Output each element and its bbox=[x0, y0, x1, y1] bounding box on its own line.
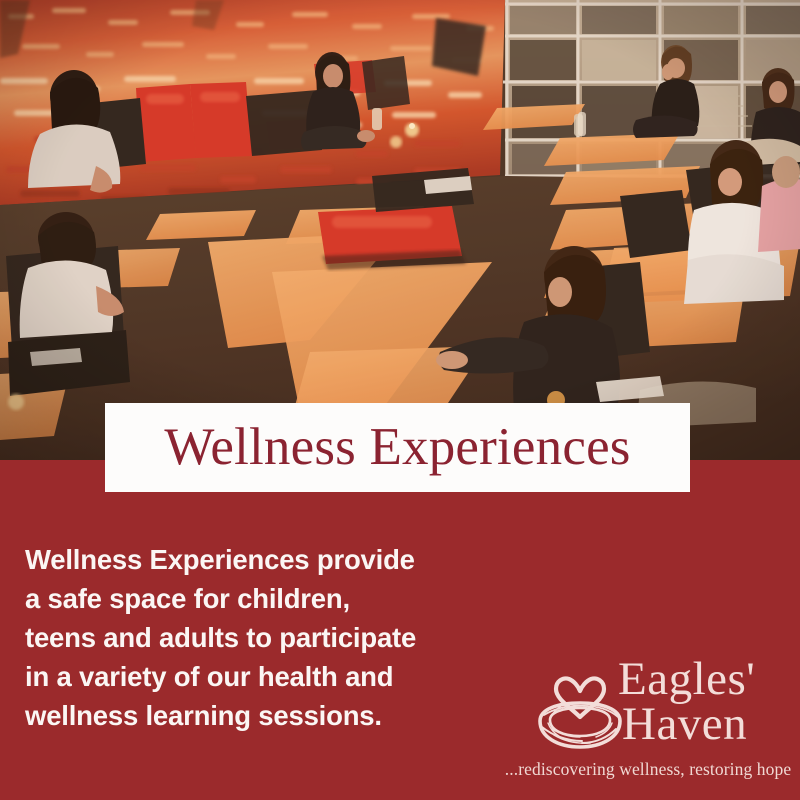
wellness-experiences-poster: Wellness Experiences Wellness Experience… bbox=[0, 0, 800, 800]
photo-illustration bbox=[0, 0, 800, 460]
logo-word-eagles: Eagles' bbox=[618, 657, 755, 702]
description-line: in a variety of our health and bbox=[25, 657, 495, 696]
heart-in-nest-icon bbox=[530, 673, 630, 755]
logo-wordmark: Eagles' Haven bbox=[618, 657, 755, 747]
wellness-studio-photo bbox=[0, 0, 800, 460]
logo-tagline: ...rediscovering wellness, restoring hop… bbox=[503, 759, 793, 780]
heart-in-nest-illustration bbox=[530, 673, 630, 755]
title-band: Wellness Experiences bbox=[105, 403, 690, 492]
description-block: Wellness Experiences provide a safe spac… bbox=[25, 540, 495, 735]
eagles-haven-logo: Eagles' Haven ...rediscovering wellness,… bbox=[500, 655, 790, 785]
description-line: wellness learning sessions. bbox=[25, 696, 495, 735]
description-line: Wellness Experiences provide bbox=[25, 540, 495, 579]
description-line: a safe space for children, bbox=[25, 579, 495, 618]
logo-word-haven: Haven bbox=[622, 702, 755, 747]
page-title: Wellness Experiences bbox=[164, 421, 630, 474]
description-line: teens and adults to participate bbox=[25, 618, 495, 657]
